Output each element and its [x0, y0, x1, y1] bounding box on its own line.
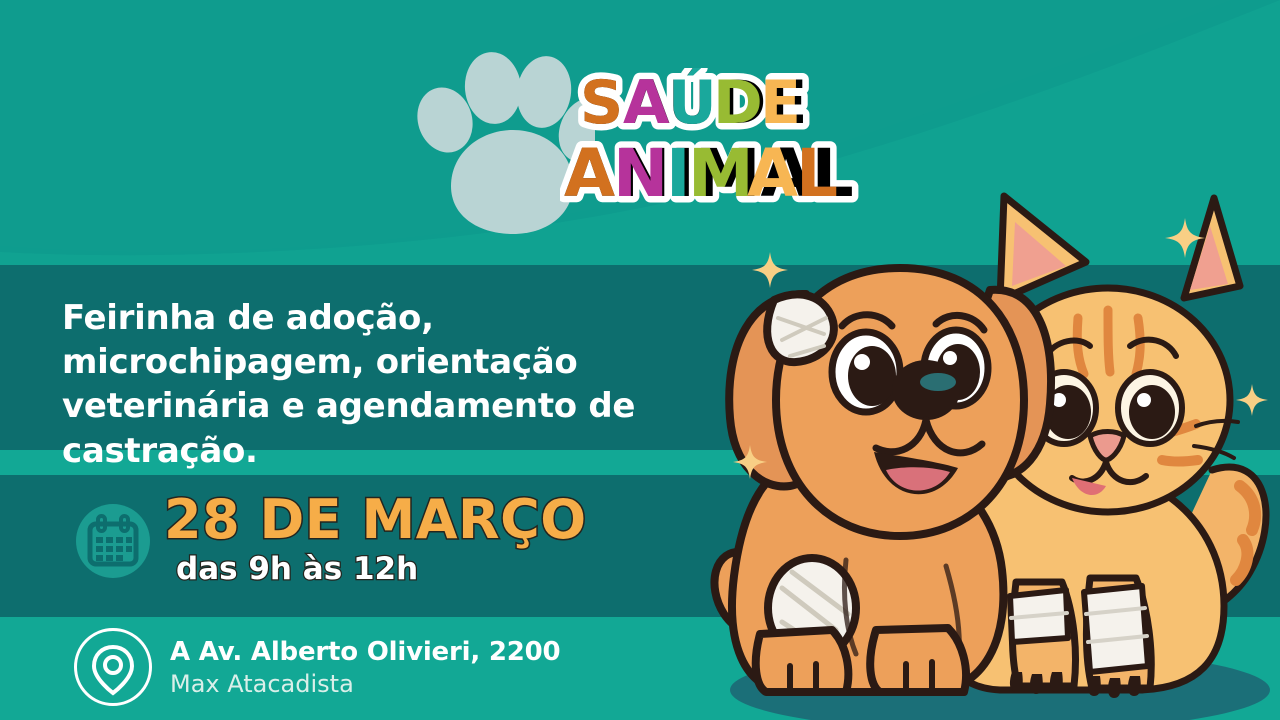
location-pin-icon	[74, 628, 152, 706]
address-row: A Av. Alberto Olivieri, 2200 Max Atacadi…	[74, 628, 560, 706]
sparkle-icon-3	[1165, 218, 1205, 258]
address-text-group: A Av. Alberto Olivieri, 2200 Max Atacadi…	[170, 637, 560, 698]
date-subline: das 9h às 12h	[176, 551, 587, 587]
address-line-1: A Av. Alberto Olivieri, 2200	[170, 637, 560, 667]
cartoon-dog	[714, 268, 1051, 692]
promo-banner: SAÚDE ANIMAL S A Ú D E A N I M A L	[0, 0, 1280, 720]
sparkle-icon-4	[1236, 384, 1268, 416]
address-line-2: Max Atacadista	[170, 670, 560, 698]
description-text: Feirinha de adoção, microchipagem, orien…	[62, 296, 742, 473]
date-row: 28 DE MARÇO das 9h às 12h	[76, 492, 587, 587]
date-text-group: 28 DE MARÇO das 9h às 12h	[164, 492, 587, 587]
date-headline: 28 DE MARÇO	[164, 492, 587, 549]
sparkle-icon-1	[752, 252, 788, 288]
calendar-icon	[76, 504, 150, 578]
